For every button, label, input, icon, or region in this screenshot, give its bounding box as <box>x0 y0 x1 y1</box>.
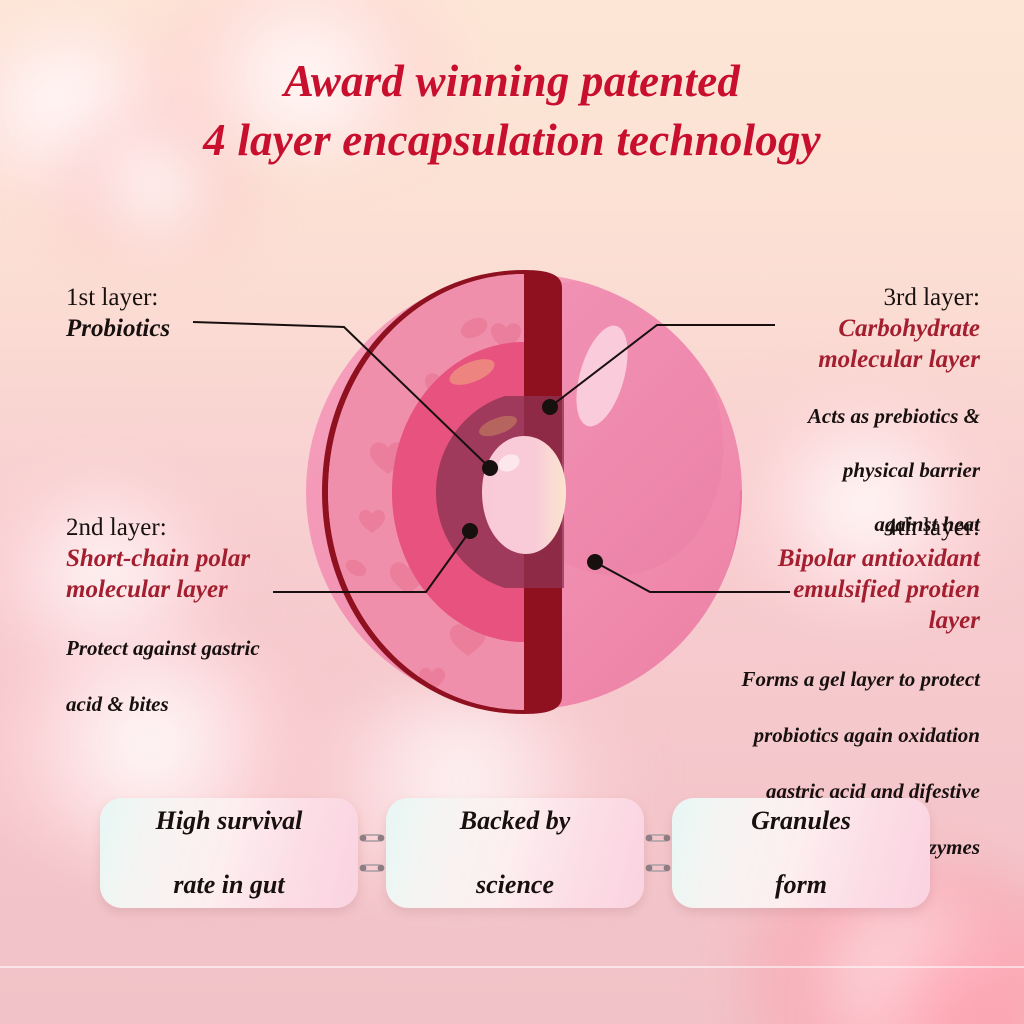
chain-link-icon <box>358 830 386 846</box>
label-layer-3: 3rd layer: Carbohydrate molecular layer … <box>808 282 980 537</box>
chain-link-icon <box>644 860 672 876</box>
layer-4-description-line-2: probiotics again oxidation <box>741 722 980 748</box>
layer-3-heading: 3rd layer: <box>808 282 980 313</box>
layer-2-description-line-1: Protect against gastric <box>66 635 260 661</box>
chain-link-icon <box>644 830 672 846</box>
chain-link-connector-2 <box>644 830 672 876</box>
badge-high-survival-line-1: High survival <box>156 805 303 837</box>
layer-2-name-line-1: Short-chain polar <box>66 543 260 574</box>
badge-high-survival-line-2: rate in gut <box>156 869 303 901</box>
leader-dot-layer-3 <box>542 399 558 415</box>
layer-1-name: Probiotics <box>66 313 170 344</box>
leader-line-layer-2 <box>273 531 470 592</box>
layer-2-name-line-2: molecular layer <box>66 574 260 605</box>
leader-dot-layer-4 <box>587 554 603 570</box>
layer-3-name-line-1: Carbohydrate <box>808 313 980 344</box>
layer-3-description-line-1: Acts as prebiotics & <box>808 403 980 429</box>
leader-line-layer-3 <box>550 325 775 407</box>
feature-badges: High survival rate in gut Backed by scie… <box>100 798 930 908</box>
layer-2-heading: 2nd layer: <box>66 512 260 543</box>
leader-dot-layer-1 <box>482 460 498 476</box>
leader-dot-layer-2 <box>462 523 478 539</box>
layer-3-name-line-2: molecular layer <box>808 344 980 375</box>
chain-link-icon <box>358 860 386 876</box>
layer-4-name-line-3: layer <box>741 605 980 636</box>
chain-link-connector-1 <box>358 830 386 876</box>
layer-4-description-line-1: Forms a gel layer to protect <box>741 666 980 692</box>
infographic-canvas: Award winning patented 4 layer encapsula… <box>0 0 1024 1024</box>
label-layer-2: 2nd layer: Short-chain polar molecular l… <box>66 512 260 717</box>
badge-backed-by-science[interactable]: Backed by science <box>386 798 644 908</box>
layer-3-description-line-2: physical barrier <box>808 457 980 483</box>
layer-4-name-line-1: Bipolar antioxidant <box>741 543 980 574</box>
badge-backed-by-science-line-1: Backed by <box>460 805 570 837</box>
badge-granules-form-line-1: Granules <box>751 805 851 837</box>
layer-1-heading: 1st layer: <box>66 282 170 313</box>
label-layer-1: 1st layer: Probiotics <box>66 282 170 344</box>
leader-line-layer-1 <box>193 322 490 468</box>
badge-backed-by-science-line-2: science <box>460 869 570 901</box>
badge-granules-form[interactable]: Granules form <box>672 798 930 908</box>
badge-high-survival[interactable]: High survival rate in gut <box>100 798 358 908</box>
badge-granules-form-line-2: form <box>751 869 851 901</box>
layer-4-name-line-2: emulsified protien <box>741 574 980 605</box>
layer-2-description-line-2: acid & bites <box>66 691 260 717</box>
layer-4-heading: 4th layer: <box>741 512 980 543</box>
